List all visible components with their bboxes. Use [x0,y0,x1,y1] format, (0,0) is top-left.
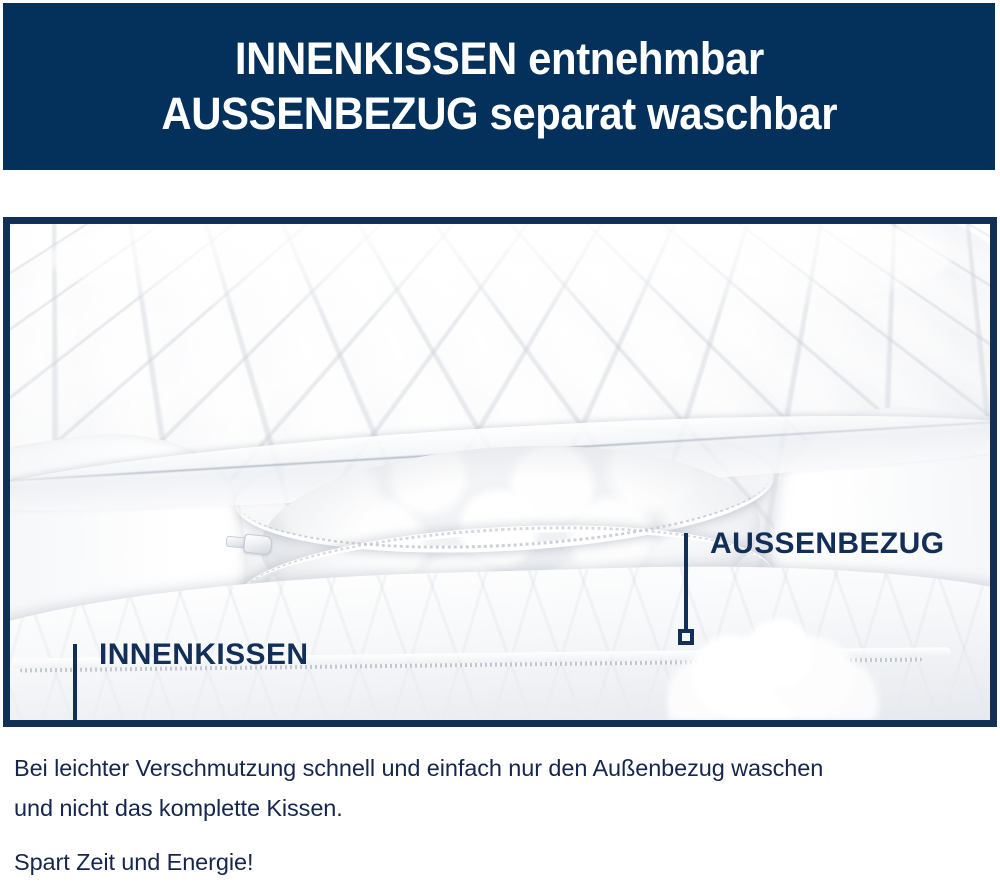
callout-innenkissen-stem [73,644,77,720]
product-photo: AUSSENBEZUG INNENKISSEN [10,224,990,720]
banner-line-1: INNENKISSEN entnehmbar [235,32,764,87]
caption-paragraph-1: Bei leichter Verschmutzung schnell und e… [14,748,986,828]
callout-aussenbezug-stem [684,533,688,629]
caption-block: Bei leichter Verschmutzung schnell und e… [14,748,986,882]
callout-innenkissen-label: INNENKISSEN [99,638,308,672]
callout-aussenbezug-marker [678,629,694,645]
caption-paragraph-2: Spart Zeit und Energie! [14,842,986,882]
zipper-slider-body [243,534,273,556]
callout-aussenbezug-label: AUSSENBEZUG [710,527,944,561]
caption-line-1: Bei leichter Verschmutzung schnell und e… [14,755,823,781]
banner-line-2: AUSSENBEZUG separat waschbar [161,87,837,142]
fiberfill-tuft [667,601,883,720]
caption-line-2: und nicht das komplette Kissen. [14,795,343,821]
product-photo-frame: AUSSENBEZUG INNENKISSEN [3,217,997,727]
caption-spacer [14,828,986,842]
header-banner: INNENKISSEN entnehmbar AUSSENBEZUG separ… [3,3,995,170]
